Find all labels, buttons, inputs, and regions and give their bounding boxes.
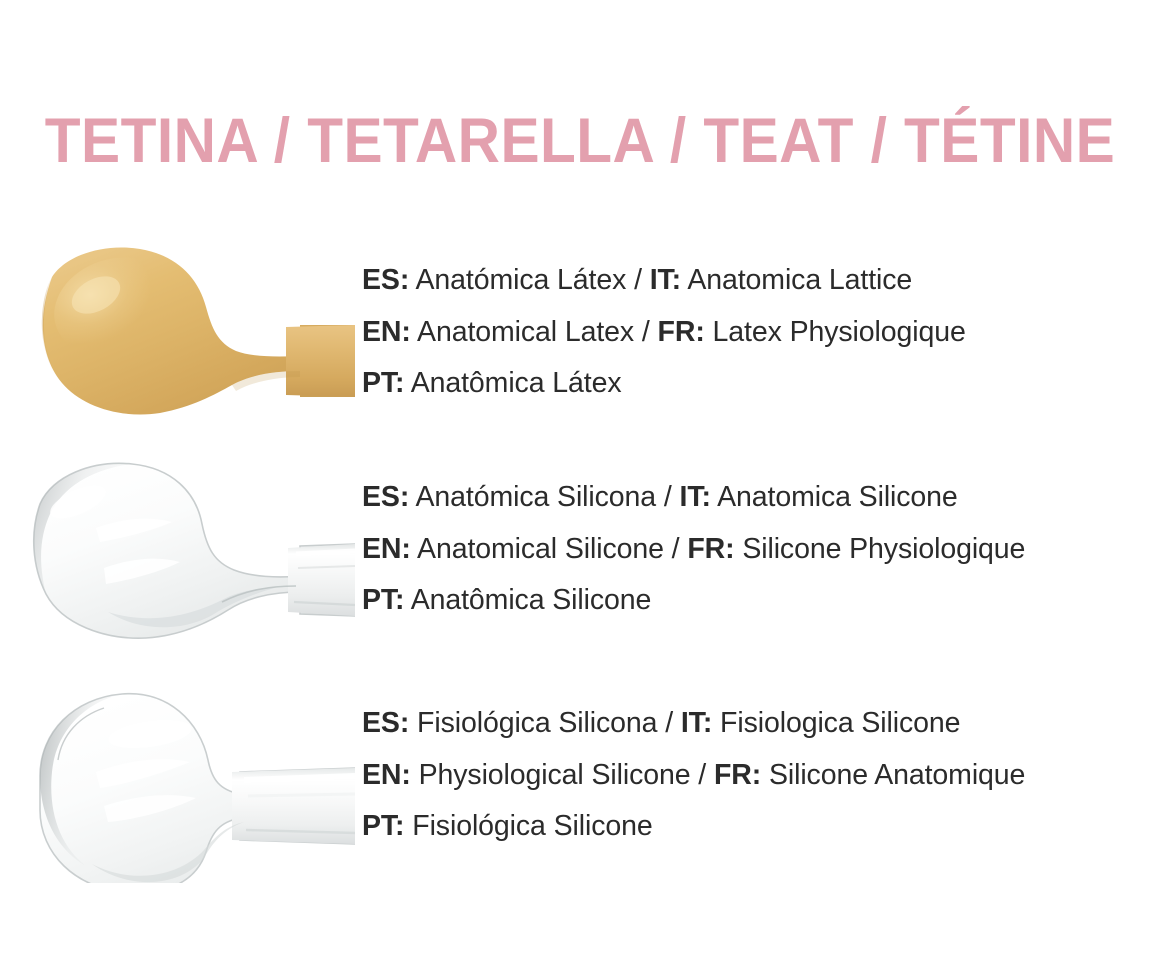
teat-description: ES: Anatómica Látex / IT: Anatomica Latt…: [355, 255, 1160, 410]
teat-row: ES: Fisiológica Silicona / IT: Fisiologi…: [0, 668, 1160, 883]
lang-code: IT:: [650, 264, 681, 296]
lang-code: ES:: [362, 707, 409, 739]
lang-value: Anatômica Látex: [404, 367, 621, 399]
lang-value: Anatômica Silicone: [404, 584, 651, 616]
lang-code: ES:: [362, 264, 409, 296]
teat-list: ES: Anatómica Látex / IT: Anatomica Latt…: [0, 0, 1160, 967]
teat-line: ES: Anatómica Silicona / IT: Anatomica S…: [362, 472, 1160, 524]
lang-code: IT:: [681, 707, 712, 739]
teat-line: EN: Anatomical Silicone / FR: Silicone P…: [362, 524, 1160, 576]
lang-value: Silicone Anatomique: [761, 759, 1025, 791]
lang-code: FR:: [687, 533, 734, 565]
lang-code: FR:: [658, 316, 705, 348]
teat-line: PT: Anatômica Látex: [362, 358, 1160, 410]
teat-line: EN: Anatomical Latex / FR: Latex Physiol…: [362, 307, 1160, 359]
teat-line: PT: Anatômica Silicone: [362, 575, 1160, 627]
teat-description: ES: Anatómica Silicona / IT: Anatomica S…: [355, 472, 1160, 627]
lang-code: PT:: [362, 584, 404, 616]
lang-value: Anatómica Látex: [409, 264, 634, 296]
lang-value: Physiological Silicone: [411, 759, 699, 791]
lang-code: PT:: [362, 810, 404, 842]
lang-value: Fisiologica Silicone: [712, 707, 960, 739]
lang-code: FR:: [714, 759, 761, 791]
teat-line: PT: Fisiológica Silicone: [362, 801, 1160, 853]
lang-value: Fisiológica Silicona: [409, 707, 665, 739]
lang-value: Anatomical Latex: [411, 316, 642, 348]
teat-line: EN: Physiological Silicone / FR: Silicon…: [362, 750, 1160, 802]
lang-code: EN:: [362, 316, 411, 348]
separator: /: [642, 316, 658, 348]
teat-line: ES: Fisiológica Silicona / IT: Fisiologi…: [362, 698, 1160, 750]
lang-code: PT:: [362, 367, 404, 399]
physiological-silicone-teat-image: [0, 668, 355, 883]
lang-code: EN:: [362, 759, 411, 791]
anatomical-silicone-teat-image: [0, 442, 355, 657]
separator: /: [698, 759, 714, 791]
teat-row: ES: Anatómica Látex / IT: Anatomica Latt…: [0, 225, 1160, 440]
lang-value: Latex Physiologique: [705, 316, 966, 348]
lang-code: IT:: [680, 481, 711, 513]
teat-description: ES: Fisiológica Silicona / IT: Fisiologi…: [355, 698, 1160, 853]
separator: /: [634, 264, 650, 296]
separator: /: [672, 533, 688, 565]
anatomical-latex-teat-image: [0, 225, 355, 440]
lang-value: Anatómica Silicona: [409, 481, 664, 513]
lang-value: Anatomical Silicone: [411, 533, 672, 565]
lang-code: EN:: [362, 533, 411, 565]
lang-value: Fisiológica Silicone: [404, 810, 652, 842]
lang-value: Anatomica Lattice: [681, 264, 912, 296]
separator: /: [664, 481, 680, 513]
lang-code: ES:: [362, 481, 409, 513]
lang-value: Silicone Physiologique: [735, 533, 1026, 565]
lang-value: Anatomica Silicone: [711, 481, 958, 513]
teat-row: ES: Anatómica Silicona / IT: Anatomica S…: [0, 442, 1160, 657]
separator: /: [665, 707, 681, 739]
teat-line: ES: Anatómica Látex / IT: Anatomica Latt…: [362, 255, 1160, 307]
